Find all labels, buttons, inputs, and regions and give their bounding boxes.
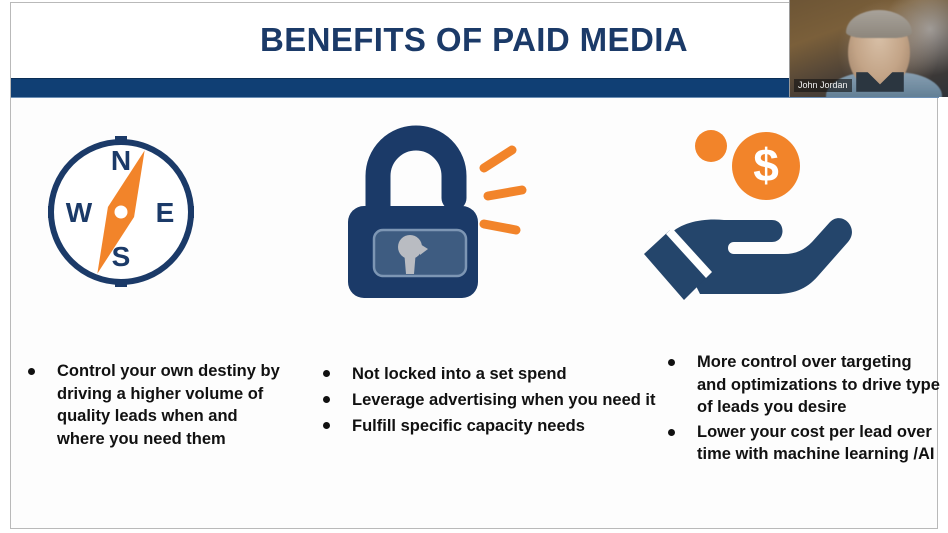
padlock-icon-cell [336, 118, 636, 323]
presentation-slide: BENEFITS OF PAID MEDIA John Jordan [0, 0, 948, 533]
list-item: Leverage advertising when you need it [310, 388, 660, 413]
svg-text:S: S [112, 241, 131, 272]
list-item: Lower your cost per lead over time with … [655, 421, 945, 466]
list-item: Fulfill specific capacity needs [310, 414, 660, 439]
open-padlock-icon [336, 118, 536, 308]
presenter-name-label: John Jordan [794, 79, 852, 92]
bullet-column-spend: Not locked into a set spend Leverage adv… [310, 362, 660, 440]
bullet-column-control: More control over targeting and optimiza… [655, 351, 945, 468]
bullet-list: Not locked into a set spend Leverage adv… [310, 362, 660, 439]
list-item: Control your own destiny by driving a hi… [15, 360, 287, 450]
presenter-video-tile[interactable]: John Jordan [789, 0, 948, 97]
hand-holding-coin-icon: $ [626, 118, 856, 308]
compass-icon-cell: N S W E [31, 118, 331, 323]
bullet-list: Control your own destiny by driving a hi… [15, 360, 287, 450]
svg-text:N: N [111, 145, 131, 176]
hand-coin-icon-cell: $ [626, 118, 926, 323]
list-item: More control over targeting and optimiza… [655, 351, 945, 419]
list-item: Not locked into a set spend [310, 362, 660, 387]
icon-row: N S W E [11, 118, 939, 323]
bullet-column-destiny: Control your own destiny by driving a hi… [15, 360, 287, 452]
svg-text:E: E [156, 197, 175, 228]
svg-text:$: $ [753, 139, 779, 191]
compass-icon: N S W E [31, 118, 211, 308]
svg-text:W: W [66, 197, 93, 228]
bullet-list: More control over targeting and optimiza… [655, 351, 945, 466]
